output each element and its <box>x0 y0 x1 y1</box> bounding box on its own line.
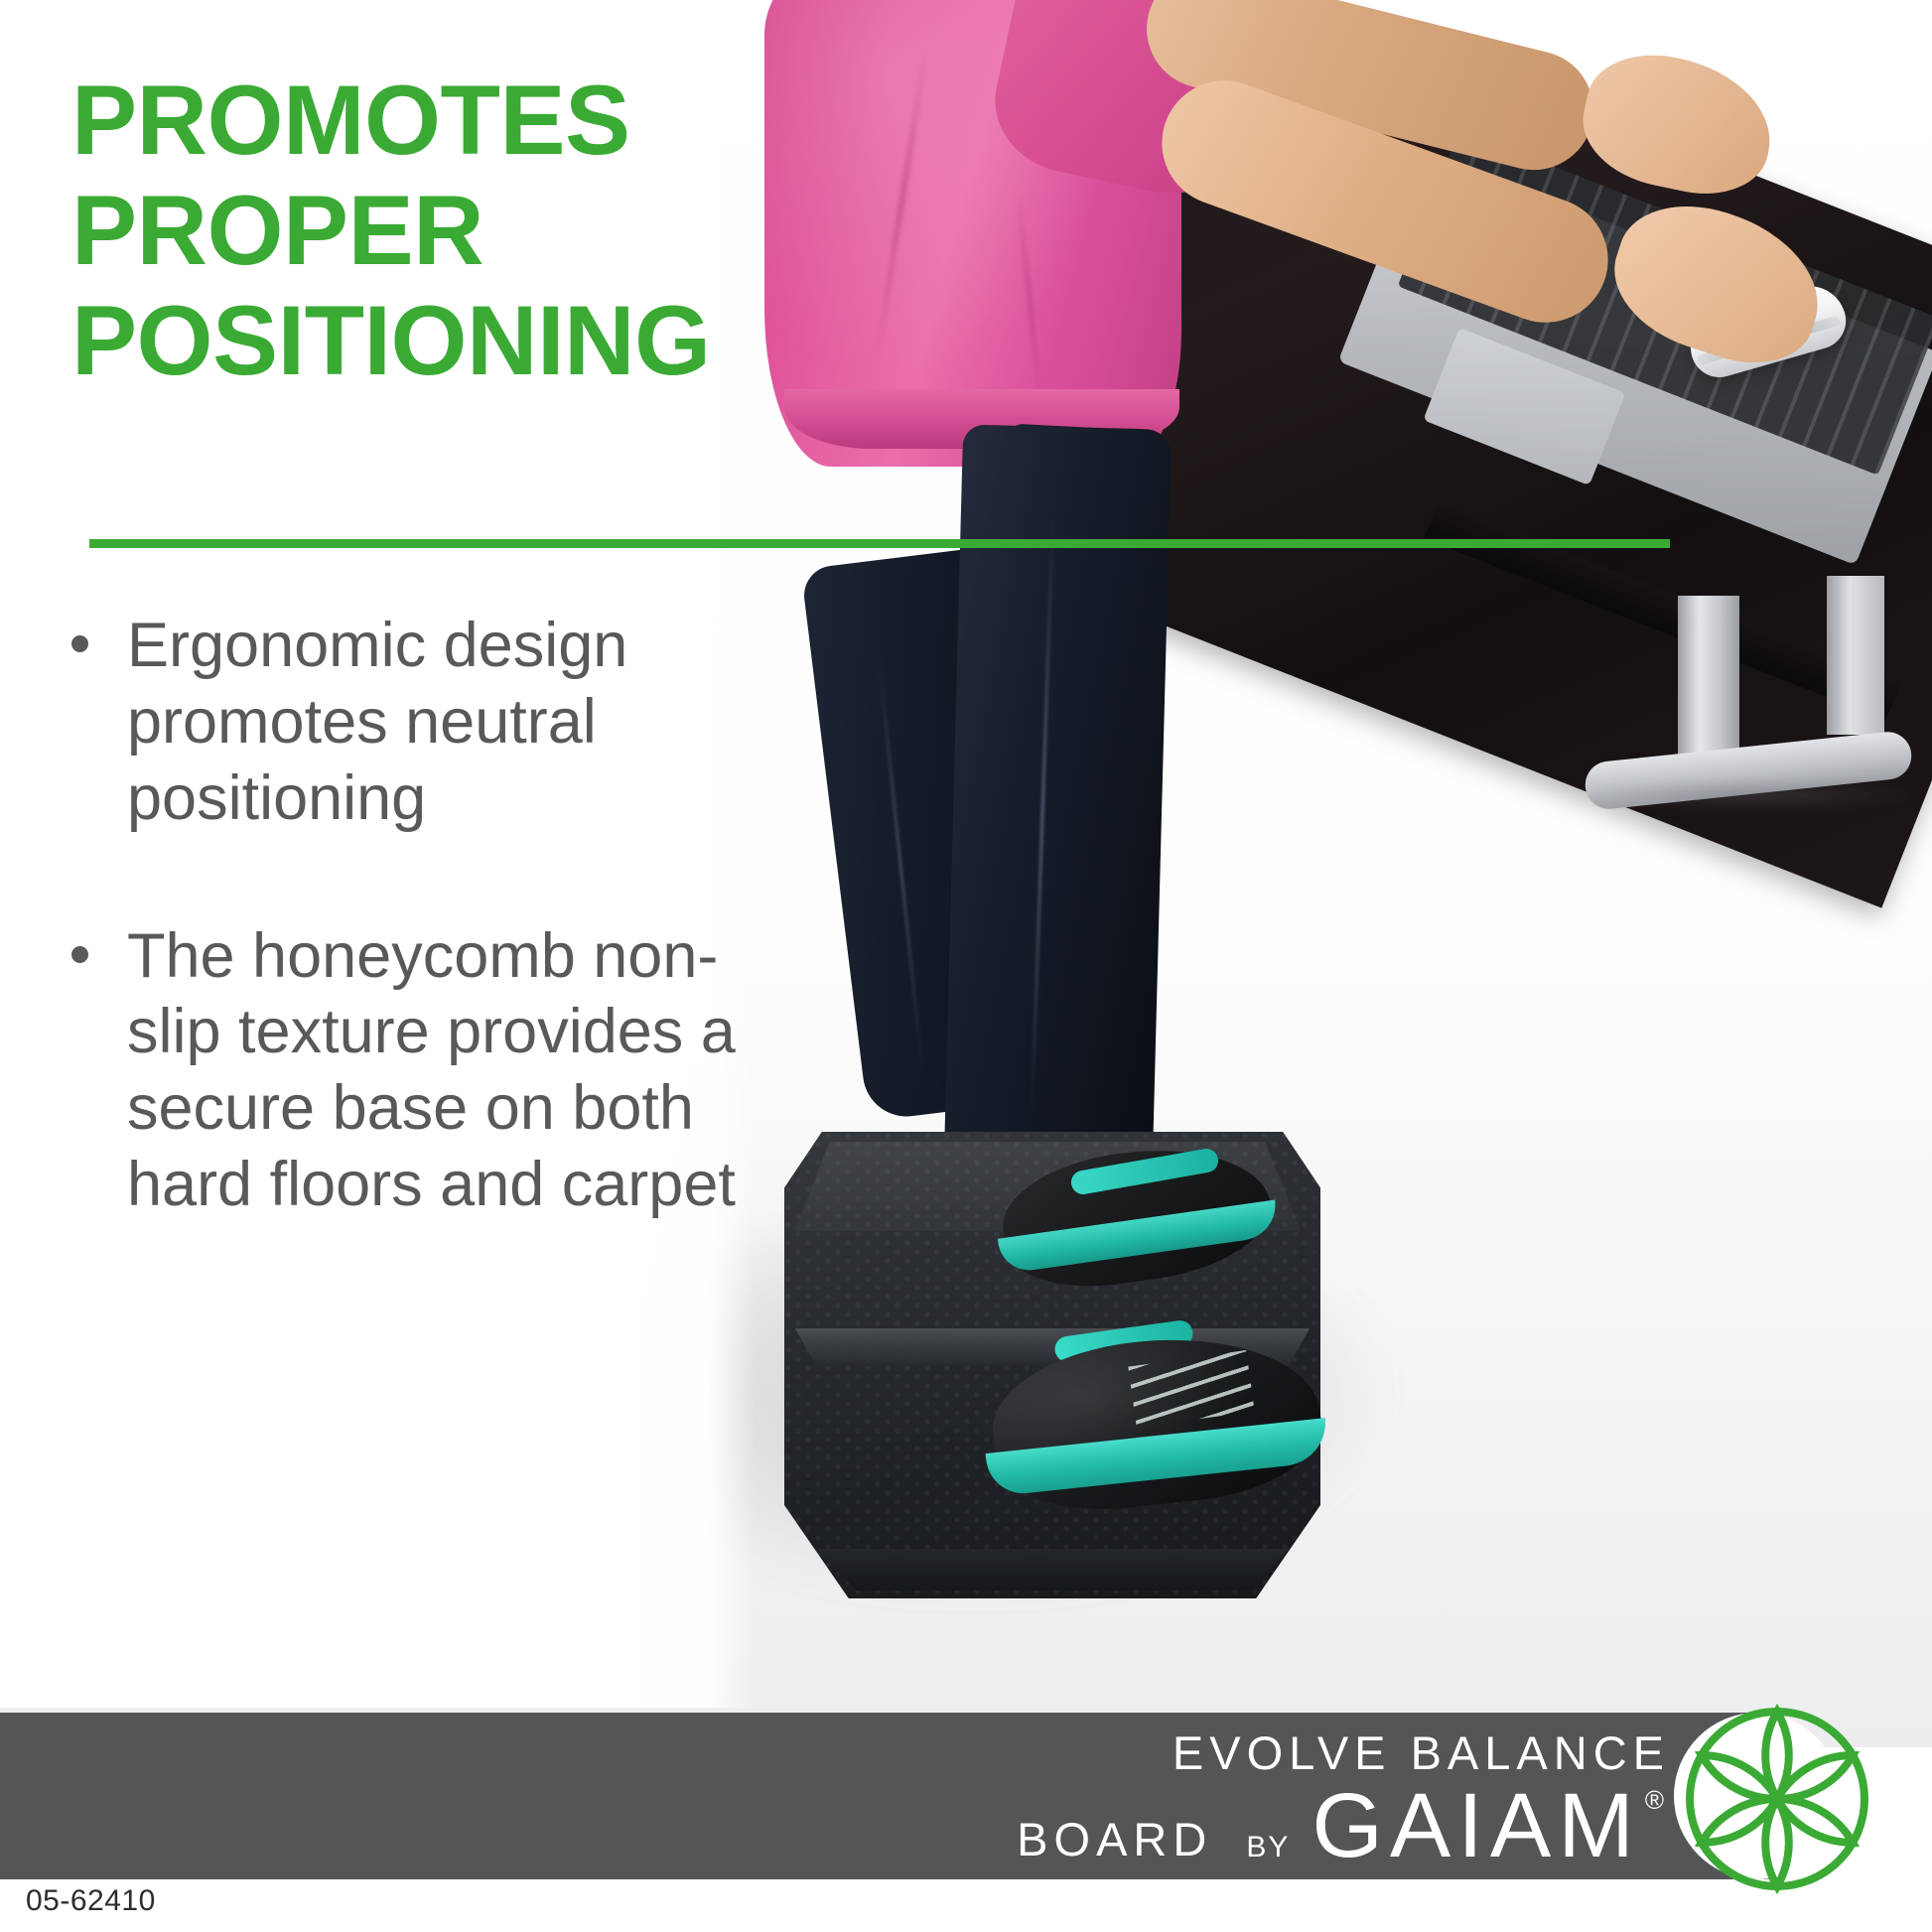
brand-by-label: BY <box>1246 1828 1290 1866</box>
feature-bullet-list: Ergonomic design promotes neutral positi… <box>66 608 741 1305</box>
desk-leg-column-secondary <box>1827 576 1884 735</box>
registered-trademark-icon: ® <box>1645 1784 1670 1818</box>
brand-lockup: BY GAIAM ® <box>1246 1783 1670 1869</box>
footer-row-top: EVOLVE BALANCE <box>1017 1723 1670 1783</box>
bullet-dot-icon <box>71 946 88 963</box>
green-divider-rule <box>89 539 1670 548</box>
footer-text-block: EVOLVE BALANCE BOARD BY GAIAM ® <box>0 1713 1688 1879</box>
gaiam-flower-of-life-icon <box>1678 1700 1876 1898</box>
product-feature-image: PROMOTES PROPER POSITIONING Ergonomic de… <box>0 0 1932 1932</box>
list-item: The honeycomb non-slip texture provides … <box>66 918 741 1223</box>
footer-lines: EVOLVE BALANCE BOARD BY GAIAM ® <box>1017 1723 1670 1869</box>
page-title: PROMOTES PROPER POSITIONING <box>71 66 846 396</box>
footer-row-bottom: BOARD BY GAIAM ® <box>1017 1783 1670 1869</box>
product-name-line-2: BOARD <box>1017 1809 1212 1869</box>
brand-wordmark: GAIAM <box>1311 1783 1640 1869</box>
bullet-dot-icon <box>71 635 88 652</box>
headline-line-3: POSITIONING <box>71 286 846 396</box>
headline-line-1: PROMOTES <box>71 66 846 176</box>
product-name-line-1: EVOLVE BALANCE <box>1173 1723 1670 1783</box>
sku-code: 05-62410 <box>26 1884 156 1918</box>
desk-foot-shadow <box>1579 784 1926 810</box>
headline-line-2: PROPER <box>71 176 846 286</box>
bullet-text: The honeycomb non-slip texture provides … <box>127 921 736 1220</box>
balance-board-front-lip <box>794 1549 1311 1590</box>
bullet-text: Ergonomic design promotes neutral positi… <box>127 611 627 833</box>
list-item: Ergonomic design promotes neutral positi… <box>66 608 741 837</box>
